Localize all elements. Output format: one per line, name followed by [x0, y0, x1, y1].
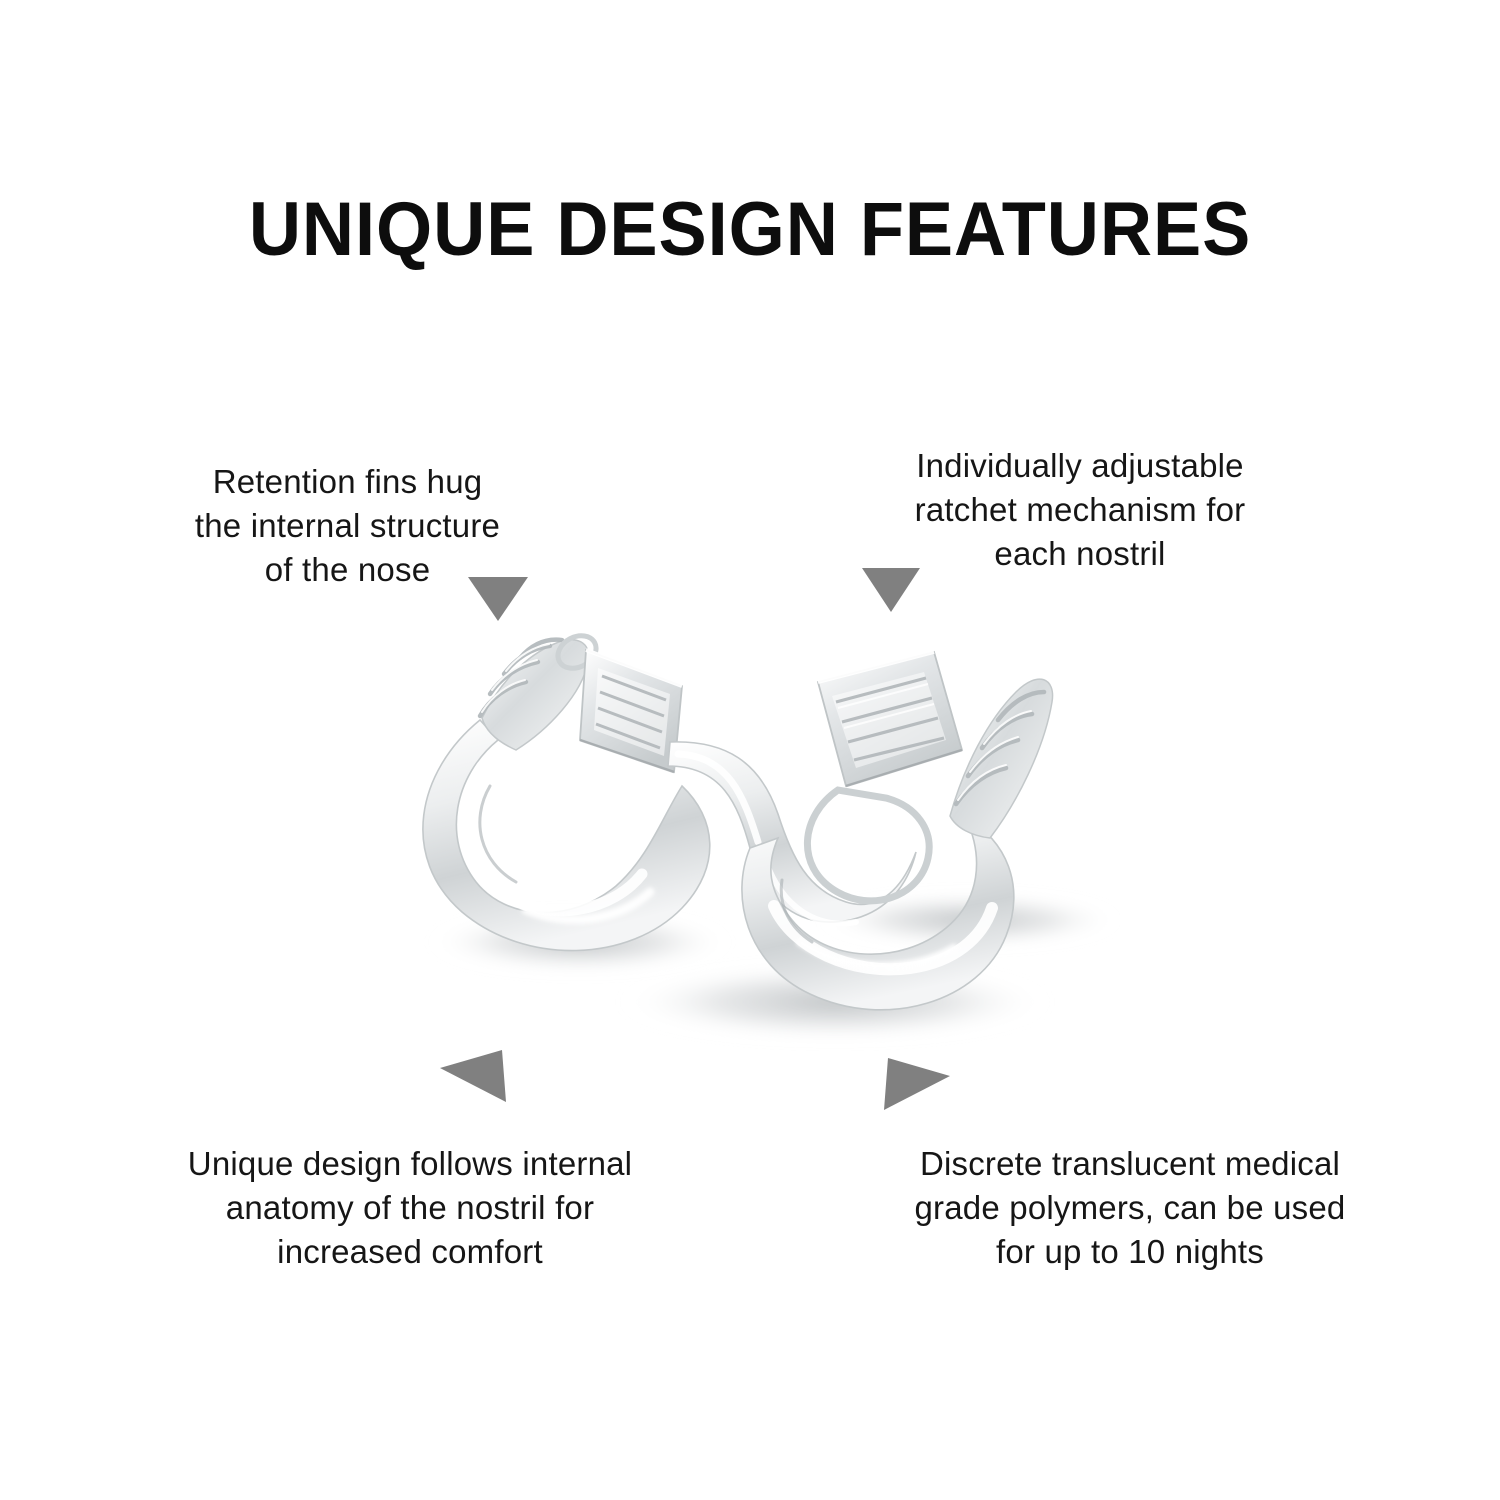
callout-line: anatomy of the nostril for — [100, 1186, 720, 1230]
triangle-up-left-icon — [440, 1050, 506, 1102]
triangle-down-icon — [862, 568, 920, 612]
callout-ratchet-mechanism: Individually adjustable ratchet mechanis… — [845, 444, 1315, 576]
product-image — [330, 590, 1120, 1060]
callout-line: Retention fins hug — [120, 460, 575, 504]
callout-line: Unique design follows internal — [100, 1142, 720, 1186]
infographic-page: UNIQUE DESIGN FEATURES — [0, 0, 1500, 1500]
callout-line: Individually adjustable — [845, 444, 1315, 488]
left-ratchet-block — [580, 650, 682, 772]
right-retention-fins — [950, 679, 1053, 838]
callout-medical-grade-polymers: Discrete translucent medical grade polym… — [840, 1142, 1420, 1274]
triangle-down-icon — [468, 577, 528, 621]
callout-line: grade polymers, can be used — [840, 1186, 1420, 1230]
callout-line: the internal structure — [120, 504, 575, 548]
callout-line: Discrete translucent medical — [840, 1142, 1420, 1186]
callout-line: for up to 10 nights — [840, 1230, 1420, 1274]
triangle-up-right-icon — [884, 1058, 950, 1110]
callout-internal-anatomy: Unique design follows internal anatomy o… — [100, 1142, 720, 1274]
right-ratchet-block — [818, 652, 962, 786]
right-inner-loop — [807, 790, 929, 901]
callout-line: ratchet mechanism for — [845, 488, 1315, 532]
page-title: UNIQUE DESIGN FEATURES — [38, 192, 1463, 268]
callout-retention-fins: Retention fins hug the internal structur… — [120, 460, 575, 592]
callout-line: increased comfort — [100, 1230, 720, 1274]
